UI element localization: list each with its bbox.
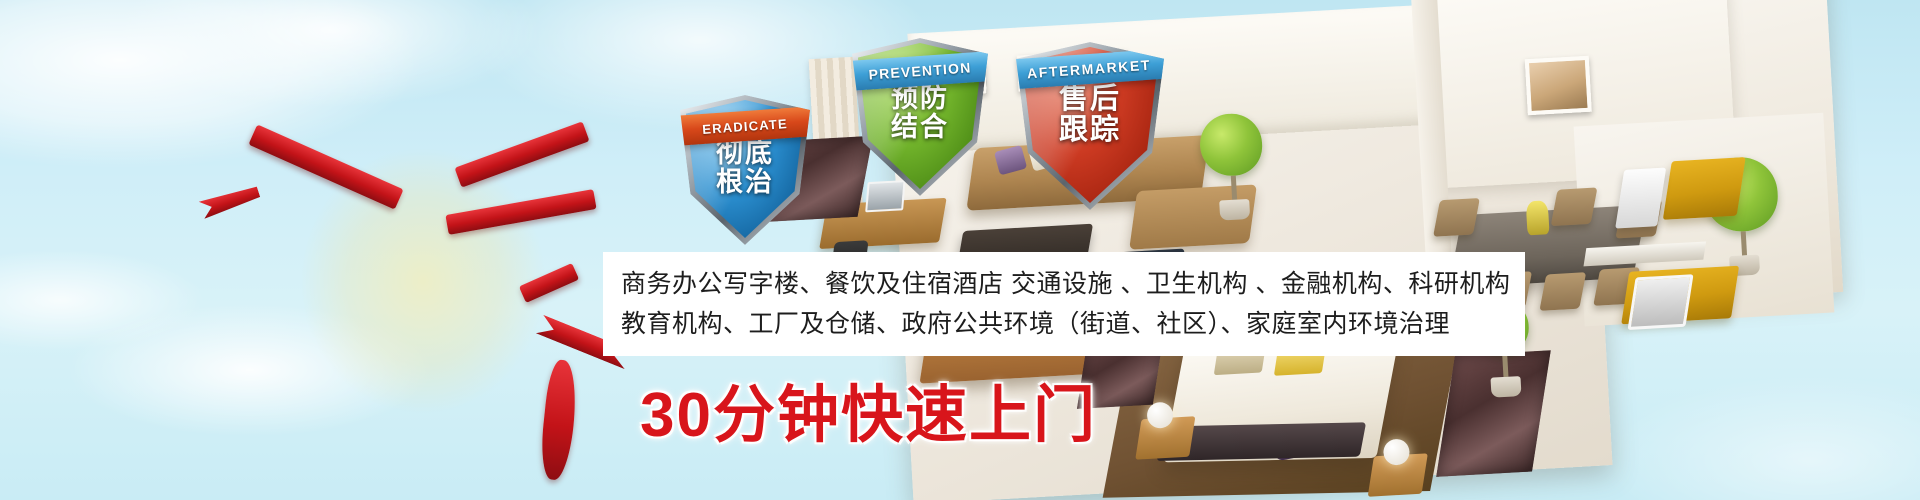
- headline-text: 30分钟快速上门: [640, 364, 1097, 454]
- gold-number-three: 3: [258, 96, 588, 466]
- shield-cn-line1: 售后: [1016, 84, 1164, 115]
- dining-chair-5: [1551, 187, 1598, 226]
- oven: [1628, 274, 1694, 330]
- kitchen-upper-cabinet: [1663, 157, 1746, 220]
- table-flowers: [1526, 200, 1550, 235]
- ribbon-tail-left: [199, 183, 262, 219]
- shield-cn-line2: 根治: [680, 168, 810, 197]
- potted-plant-1: [1198, 112, 1266, 221]
- dining-chair-3: [1539, 272, 1586, 311]
- dining-chair-1: [1433, 198, 1480, 237]
- office-monitor: [865, 180, 905, 212]
- shield-cn-line2: 结合: [852, 113, 988, 142]
- service-scope-line-2: 教育机构、工厂及仓储、政府公共环境（街道、社区）、家庭室内环境治理: [621, 304, 1507, 345]
- service-scope-line-1: 商务办公写字楼、餐饮及住宿酒店 交通设施 、卫生机构 、金融机构、科研机构: [621, 264, 1507, 305]
- shield-cn-line2: 跟踪: [1016, 115, 1164, 146]
- promo-banner: 3 彻底 根治 ERADICATE 预防 结合: [0, 0, 1920, 500]
- wall-portrait: [1525, 56, 1592, 115]
- service-scope-panel: 商务办公写字楼、餐饮及住宿酒店 交通设施 、卫生机构 、金融机构、科研机构 教育…: [603, 252, 1525, 356]
